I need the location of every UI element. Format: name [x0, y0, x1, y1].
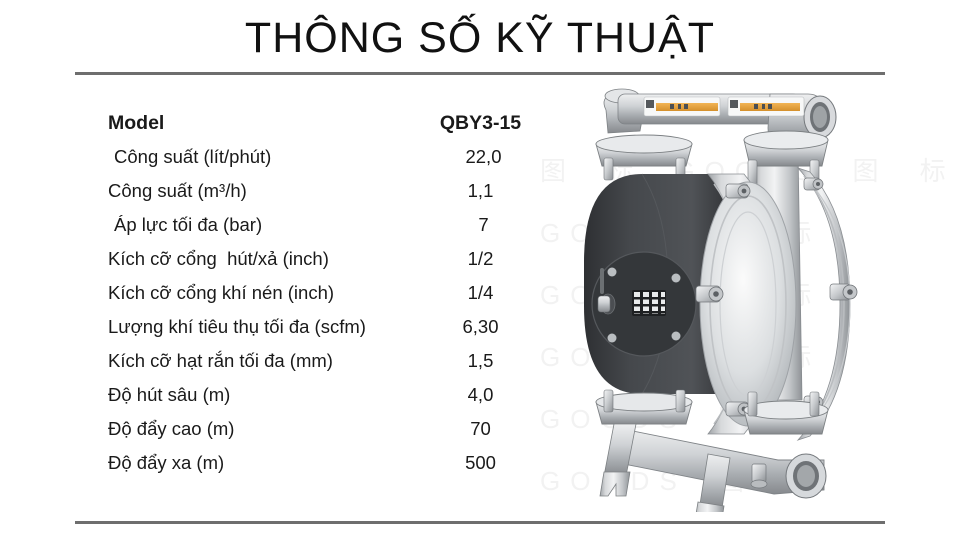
- table-row: Kích cỡ cổng khí nén (inch) 1/4: [108, 282, 548, 316]
- footer-divider-bottom: [75, 521, 885, 524]
- spec-value: 1,5: [413, 350, 548, 372]
- table-row: Công suất (lít/phút) 22,0: [108, 146, 548, 180]
- table-header-value: QBY3-15: [413, 112, 548, 135]
- table-header-label: Model: [108, 112, 413, 135]
- page-title: THÔNG SỐ KỸ THUẬT: [0, 14, 960, 63]
- spec-value: 500: [413, 452, 548, 474]
- title-divider-top: [75, 72, 885, 75]
- spec-label: Độ hút sâu (m): [108, 384, 413, 406]
- spec-label: Công suất (m³/h): [108, 180, 413, 202]
- table-row: Độ hút sâu (m) 4,0: [108, 384, 548, 418]
- table-row: Công suất (m³/h) 1,1: [108, 180, 548, 214]
- upper-flange-left: [596, 135, 692, 180]
- spec-value: 7: [419, 214, 548, 236]
- spec-label: Kích cỡ cổng khí nén (inch): [108, 282, 413, 304]
- table-row: Kích cỡ cổng hút/xả (inch) 1/2: [108, 248, 548, 282]
- drain-plug: [751, 464, 767, 488]
- warning-decal: [728, 97, 804, 116]
- air-exhaust-muffler: [632, 290, 666, 316]
- table-row: Độ đẩy xa (m) 500: [108, 452, 548, 486]
- table-row: Kích cỡ hạt rắn tối đa (mm) 1,5: [108, 350, 548, 384]
- table-header-row: Model QBY3-15: [108, 112, 548, 146]
- diaphragm-cover-rear: [798, 168, 857, 440]
- table-row: Áp lực tối đa (bar) 7: [108, 214, 548, 248]
- lower-flange-left: [596, 390, 692, 424]
- warning-decal: [644, 97, 720, 116]
- specification-table: Model QBY3-15 Công suất (lít/phút) 22,0 …: [108, 112, 548, 486]
- spec-value: 22,0: [419, 146, 548, 168]
- spec-label: Kích cỡ hạt rắn tối đa (mm): [108, 350, 413, 372]
- spec-label: Áp lực tối đa (bar): [108, 214, 419, 236]
- table-row: Lượng khí tiêu thụ tối đa (scfm) 6,30: [108, 316, 548, 350]
- pump-product-image: [548, 72, 948, 512]
- spec-label: Công suất (lít/phút): [108, 146, 419, 168]
- spec-sheet-page: 图 标 GOODS 图 标 GOODS 图 标 GOODS 图 标 GOODS …: [0, 0, 960, 560]
- spec-value: 70: [413, 418, 548, 440]
- spec-label: Lượng khí tiêu thụ tối đa (scfm): [108, 316, 413, 338]
- spec-value: 6,30: [413, 316, 548, 338]
- spec-label: Độ đẩy xa (m): [108, 452, 413, 474]
- spec-value: 1/2: [413, 248, 548, 270]
- spec-label: Kích cỡ cổng hút/xả (inch): [108, 248, 413, 270]
- spec-value: 4,0: [413, 384, 548, 406]
- spec-label: Độ đẩy cao (m): [108, 418, 413, 440]
- spec-value: 1,1: [413, 180, 548, 202]
- spec-value: 1/4: [413, 282, 548, 304]
- table-row: Độ đẩy cao (m) 70: [108, 418, 548, 452]
